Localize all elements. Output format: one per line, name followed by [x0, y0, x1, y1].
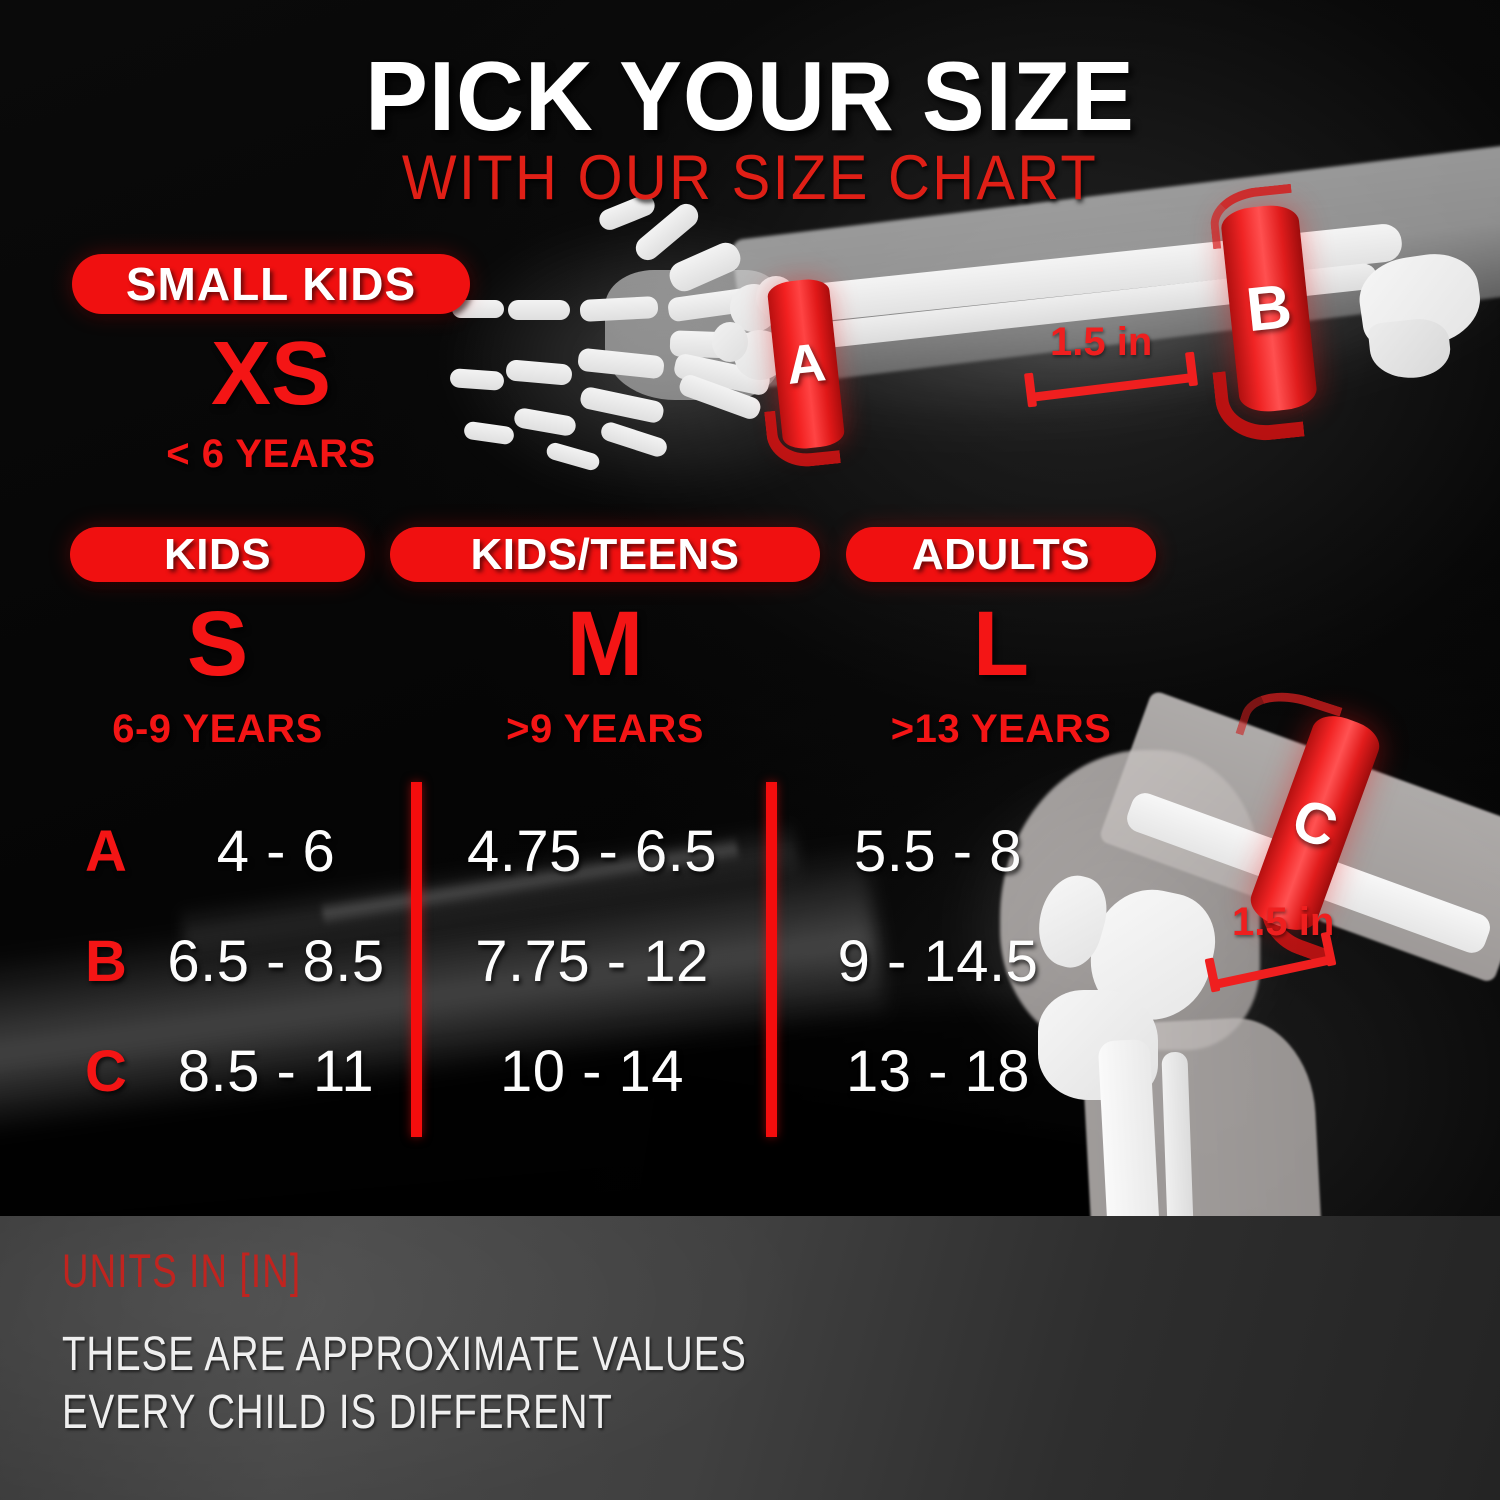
size-age-xs: < 6 YEARS — [72, 432, 470, 477]
size-age-l: >13 YEARS — [846, 707, 1156, 752]
band-c-label: C — [1284, 784, 1346, 861]
badge-small-kids: SMALL KIDS — [72, 254, 470, 314]
badge-adults-label: ADULTS — [912, 530, 1090, 580]
badge-kids: KIDS — [70, 527, 365, 582]
size-letter-xs: XS — [72, 323, 470, 426]
badge-small-kids-label: SMALL KIDS — [126, 257, 416, 311]
badge-kids-teens: KIDS/TEENS — [390, 527, 820, 582]
size-letter-l: L — [846, 592, 1156, 697]
size-age-m: >9 YEARS — [390, 707, 820, 752]
table-cell-a-s: 4 - 6 — [148, 818, 404, 885]
size-chart-infographic: A B 1.5 in C 1.5 in — [0, 0, 1500, 1500]
table-cell-b-m: 7.75 - 12 — [424, 928, 760, 995]
knee-dimension-label: 1.5 in — [1232, 900, 1334, 945]
footer-units-label: UNITS IN [IN] — [62, 1243, 301, 1298]
table-cell-c-l: 13 - 18 — [782, 1038, 1094, 1105]
index-proximal-phalanx — [579, 296, 658, 322]
size-letter-s: S — [70, 592, 365, 697]
footer-note-line-1: THESE ARE APPROXIMATE VALUES — [62, 1327, 747, 1382]
badge-kids-teens-label: KIDS/TEENS — [470, 530, 739, 580]
table-row-label-a: A — [76, 818, 136, 885]
size-age-s: 6-9 YEARS — [70, 707, 365, 752]
badge-adults: ADULTS — [846, 527, 1156, 582]
table-divider-2 — [766, 782, 777, 1137]
carpal-bone-3 — [712, 322, 748, 362]
page-subtitle: WITH OUR SIZE CHART — [60, 142, 1440, 214]
table-cell-a-m: 4.75 - 6.5 — [424, 818, 760, 885]
badge-kids-label: KIDS — [164, 530, 271, 580]
table-cell-b-s: 6.5 - 8.5 — [148, 928, 404, 995]
page-title: PICK YOUR SIZE — [30, 40, 1470, 153]
table-divider-1 — [411, 782, 422, 1137]
arm-xray-illustration: A B 1.5 in — [430, 180, 1500, 540]
table-cell-b-l: 9 - 14.5 — [782, 928, 1094, 995]
index-middle-phalanx — [508, 300, 570, 320]
band-a-label: A — [783, 331, 828, 397]
table-row-label-b: B — [76, 928, 136, 995]
band-b-label: B — [1243, 271, 1295, 346]
table-cell-a-l: 5.5 - 8 — [782, 818, 1094, 885]
table-row-label-c: C — [76, 1038, 136, 1105]
table-cell-c-s: 8.5 - 11 — [148, 1038, 404, 1105]
arm-dimension-label: 1.5 in — [1050, 320, 1152, 365]
size-letter-m: M — [390, 592, 820, 697]
footer-note-line-2: EVERY CHILD IS DIFFERENT — [62, 1385, 613, 1440]
table-cell-c-m: 10 - 14 — [424, 1038, 760, 1105]
